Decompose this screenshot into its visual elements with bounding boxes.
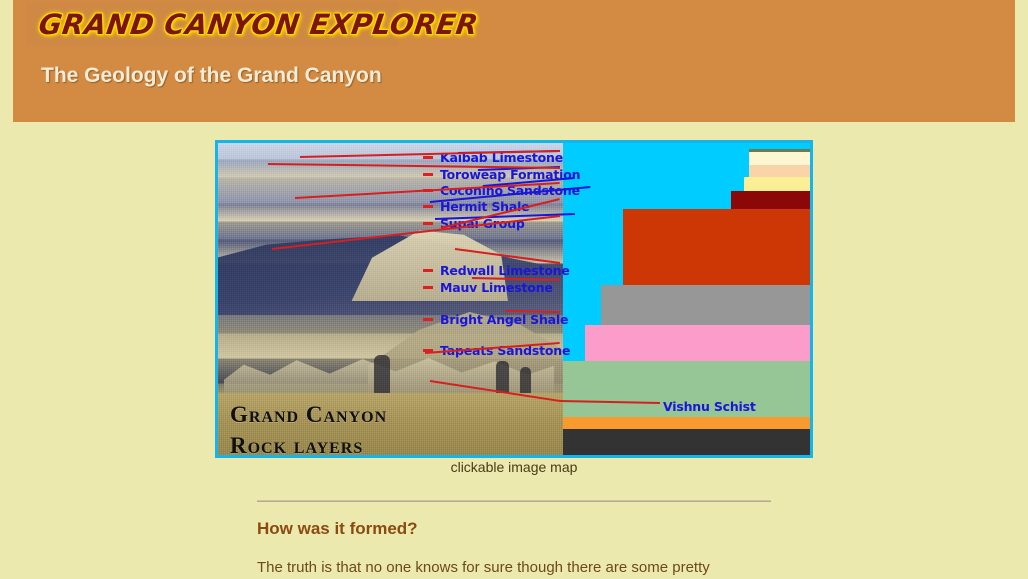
photo-caption-line-1: Grand Canyon: [230, 399, 560, 430]
layer-tick-marker: [423, 156, 433, 159]
body-paragraph: The truth is that no one knows for sure …: [257, 557, 817, 579]
site-logo[interactable]: Grand Canyon Explorer: [37, 8, 481, 41]
layer-label-redwall-limestone[interactable]: Redwall Limestone: [440, 263, 570, 278]
section-heading: How was it formed?: [257, 519, 418, 539]
photo-caption-line-2: Rock layers: [230, 430, 560, 455]
layer-label-bright-angel-shale[interactable]: Bright Angel Shale: [440, 312, 568, 327]
page-title: The Geology of the Grand Canyon: [41, 64, 382, 88]
strat-band-supai-group[interactable]: [623, 209, 810, 285]
strat-band-cap: [749, 149, 810, 152]
layer-tick-marker: [423, 173, 433, 176]
image-map-caption: clickable image map: [215, 459, 813, 475]
strat-band-redwall-limestone[interactable]: [601, 285, 810, 325]
strat-band-coconino-sandstone[interactable]: [744, 177, 810, 191]
layer-label-vishnu-schist[interactable]: Vishnu Schist: [663, 399, 756, 414]
layer-tick-marker: [423, 269, 433, 272]
strat-band-vishnu-schist[interactable]: [563, 429, 810, 455]
strat-band-mauv-limestone[interactable]: [585, 325, 810, 361]
image-map-canvas[interactable]: Grand Canyon Rock layers Kaibab Limeston…: [218, 143, 810, 455]
layer-tick-marker: [423, 318, 433, 321]
layer-tick-marker: [423, 205, 433, 208]
layer-label-hermit-shale[interactable]: Hermit Shale: [440, 199, 529, 214]
photo-caption: Grand Canyon Rock layers: [230, 399, 560, 455]
site-header: Grand Canyon Explorer The Geology of the…: [13, 0, 1015, 122]
layer-label-mauv-limestone[interactable]: Mauv Limestone: [440, 280, 553, 295]
layer-tick-marker: [423, 286, 433, 289]
strat-band-hermit-shale[interactable]: [731, 191, 810, 209]
strat-band-tapeats-sandstone[interactable]: [563, 417, 810, 429]
strat-band-kaibab-limestone[interactable]: [749, 151, 810, 165]
strat-band-toroweap-formation[interactable]: [749, 165, 810, 177]
layer-tick-marker: [423, 222, 433, 225]
horizontal-rule: [257, 500, 771, 502]
clickable-image-map[interactable]: Grand Canyon Rock layers Kaibab Limeston…: [215, 140, 813, 458]
